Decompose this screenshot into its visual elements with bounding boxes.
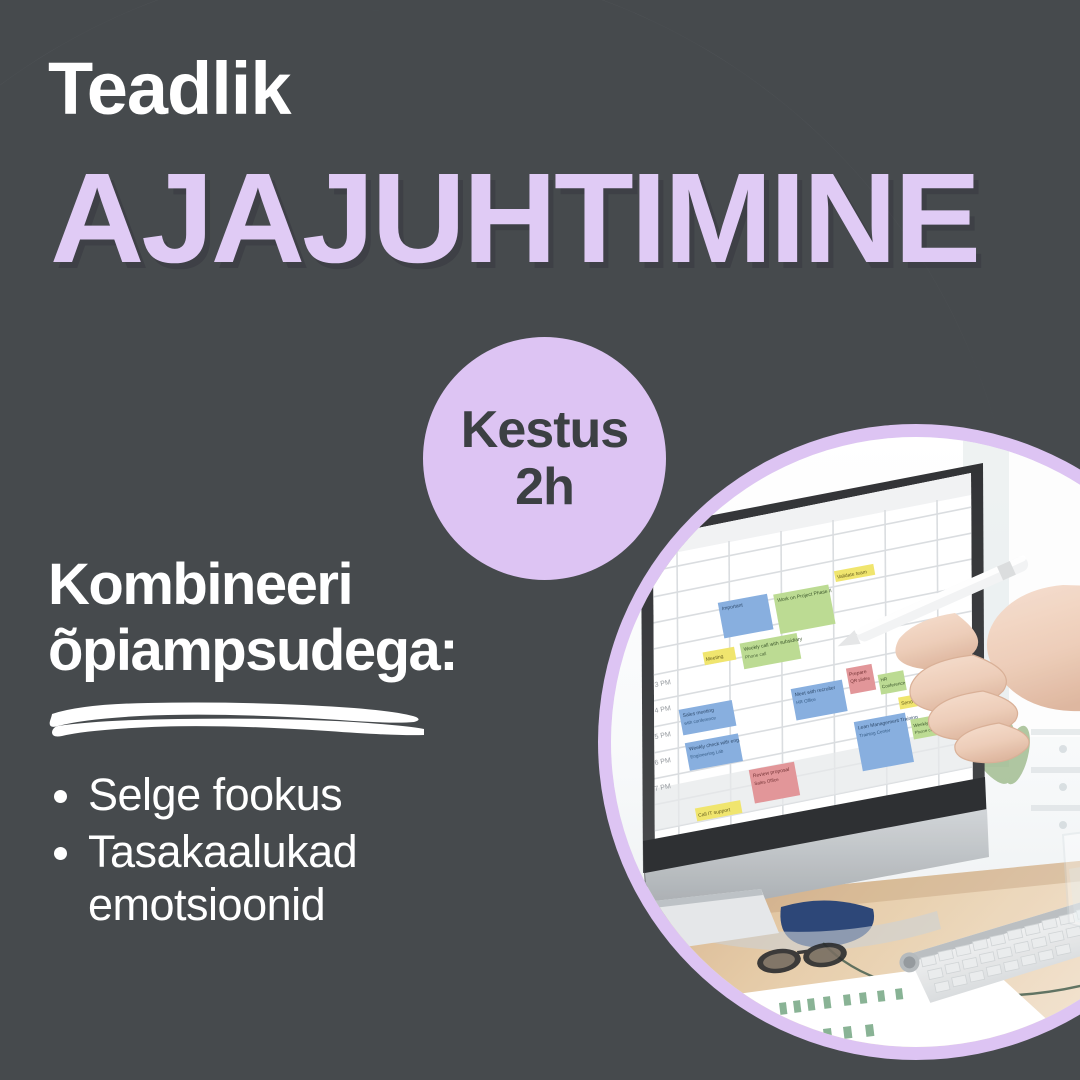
list-item: Selge fookus [40, 768, 510, 821]
page-title: AJAJUHTIMINE [50, 155, 978, 283]
eyebrow-text: Teadlik [48, 52, 291, 126]
section-subhead: Kombineeri õpiampsudega: [48, 552, 568, 684]
list-item: Tasakaalukad emotsioonid [40, 825, 510, 931]
poster-canvas: Teadlik AJAJUHTIMINE [0, 0, 1080, 1080]
handdrawn-underline [44, 692, 424, 748]
benefit-list: Selge fookus Tasakaalukad emotsioonid [40, 768, 510, 935]
badge-label: Kestus [461, 402, 628, 458]
photo-image: 3 PM 4 PM 5 PM 6 PM 7 PM Important Work … [611, 437, 1080, 1047]
badge-value: 2h [515, 459, 574, 515]
photo-circle: 3 PM 4 PM 5 PM 6 PM 7 PM Important Work … [598, 424, 1080, 1060]
duration-badge: Kestus 2h [423, 337, 666, 580]
